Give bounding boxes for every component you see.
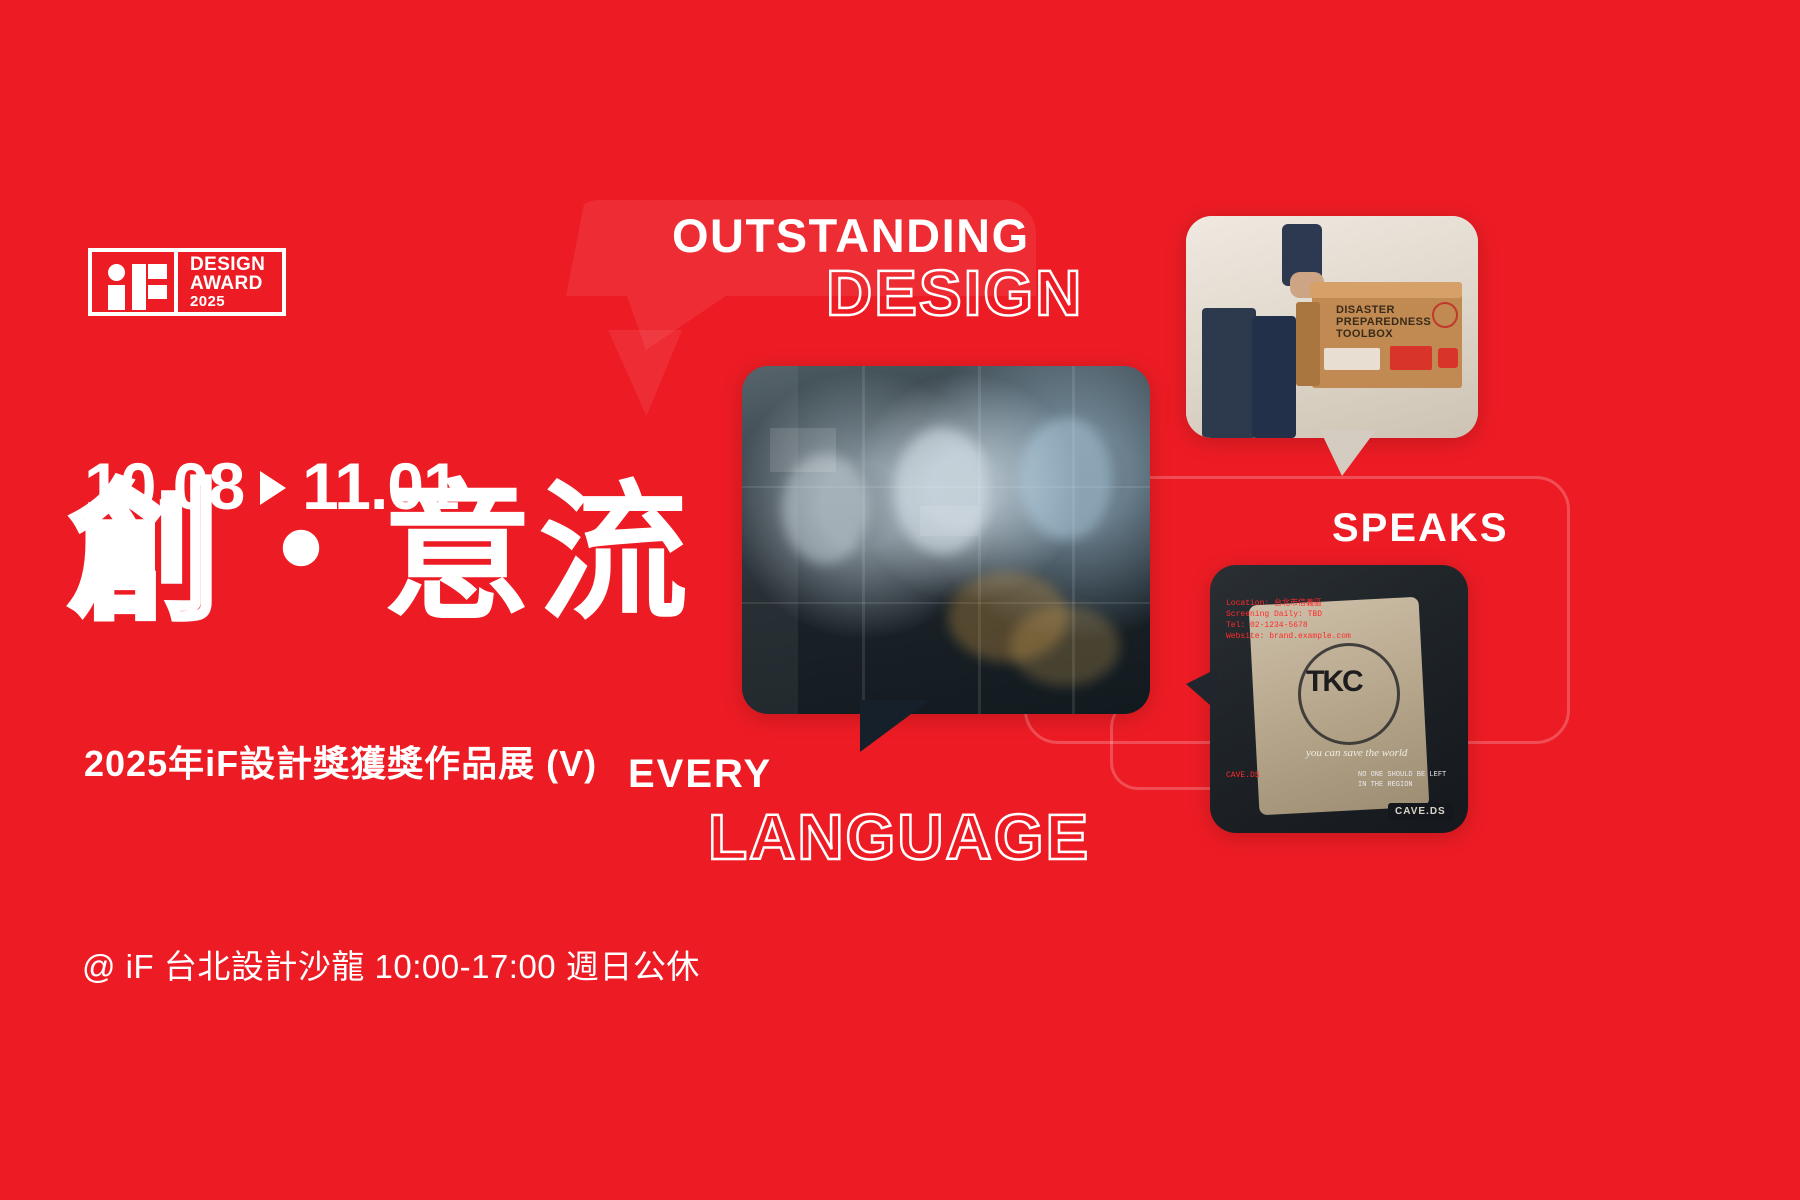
- jacket-tagline: you can save the world: [1306, 747, 1407, 759]
- logo-line-design: DESIGN: [190, 255, 282, 274]
- photo-carton-lid: [1310, 282, 1462, 298]
- carton-label-line2: PREPAREDNESS: [1336, 316, 1431, 328]
- carton-label: DISASTER PREPAREDNESS TOOLBOX: [1336, 304, 1431, 340]
- letter-i-stem: [108, 285, 125, 310]
- letter-f-lower-arm: [148, 285, 167, 299]
- carton-label-line3: TOOLBOX: [1336, 328, 1431, 340]
- carton-label-line1: DISASTER: [1336, 304, 1431, 316]
- jacket-mission-line1: NO ONE SHOULD BE LEFT: [1358, 771, 1446, 780]
- page-title: 創・意流: [70, 478, 694, 628]
- artwork-photo-toolbox: DISASTER PREPAREDNESS TOOLBOX: [1186, 216, 1478, 438]
- bubble-tail-jacket: [1186, 668, 1218, 712]
- jacket-info-line2: Screening Daily: TBD: [1226, 610, 1322, 620]
- title-char-chuang: 創: [70, 469, 226, 637]
- logo-line-year: 2025: [190, 293, 282, 310]
- ghost-bubble-tail-top: [608, 330, 682, 416]
- letter-f-upper-arm: [148, 264, 167, 279]
- page-subtitle: 2025年iF設計獎獲獎作品展 (V): [84, 735, 597, 787]
- if-design-award-logo: DESIGN AWARD 2025: [88, 248, 286, 316]
- artwork-photo-jacket: TKC Location: 台北市信義區 Screening Daily: TB…: [1210, 565, 1468, 833]
- headline-word-speaks: SPEAKS: [1332, 506, 1509, 551]
- venue-and-hours: @ iF 台北設計沙龍 10:00-17:00 週日公休: [82, 940, 700, 988]
- headline-word-design: DESIGN: [826, 256, 1083, 330]
- title-separator-dot: ・: [226, 469, 382, 637]
- photo-leg-right: [1252, 316, 1296, 438]
- photo-leg-left: [1202, 308, 1256, 438]
- headline-word-language: LANGUAGE: [708, 800, 1090, 874]
- title-char-liu: 流: [538, 469, 694, 637]
- photo-carton-side: [1296, 302, 1320, 386]
- jacket-info-line1: Location: 台北市信義區: [1226, 599, 1322, 609]
- jacket-graphic-text: TKC: [1306, 665, 1362, 699]
- letter-i-dot: [108, 264, 125, 281]
- bubble-tail-screen: [860, 700, 930, 752]
- jacket-brand-badge: CAVE.DS: [1388, 803, 1453, 820]
- bubble-tail-toolbox: [1320, 430, 1376, 476]
- title-char-yi: 意: [382, 469, 538, 637]
- jacket-info-line3: Tel: 02-1234-5678: [1226, 621, 1308, 631]
- jacket-info-line4: Website: brand.example.com: [1226, 632, 1351, 642]
- if-monogram: [92, 252, 178, 312]
- artwork-photo-screen: [742, 366, 1150, 714]
- logo-wordmark: DESIGN AWARD 2025: [178, 252, 282, 312]
- jacket-footer-note: CAVE.DS: [1226, 771, 1260, 781]
- poster-canvas: DESIGN AWARD 2025 10.08 11.01 創・意流 2025年…: [0, 0, 1800, 1200]
- jacket-mission-line2: IN THE REGION: [1358, 781, 1413, 790]
- letter-f-stem: [132, 264, 146, 310]
- headline-word-outstanding: OUTSTANDING: [672, 208, 1030, 263]
- headline-word-every: EVERY: [628, 752, 772, 797]
- logo-line-award: AWARD: [190, 274, 282, 293]
